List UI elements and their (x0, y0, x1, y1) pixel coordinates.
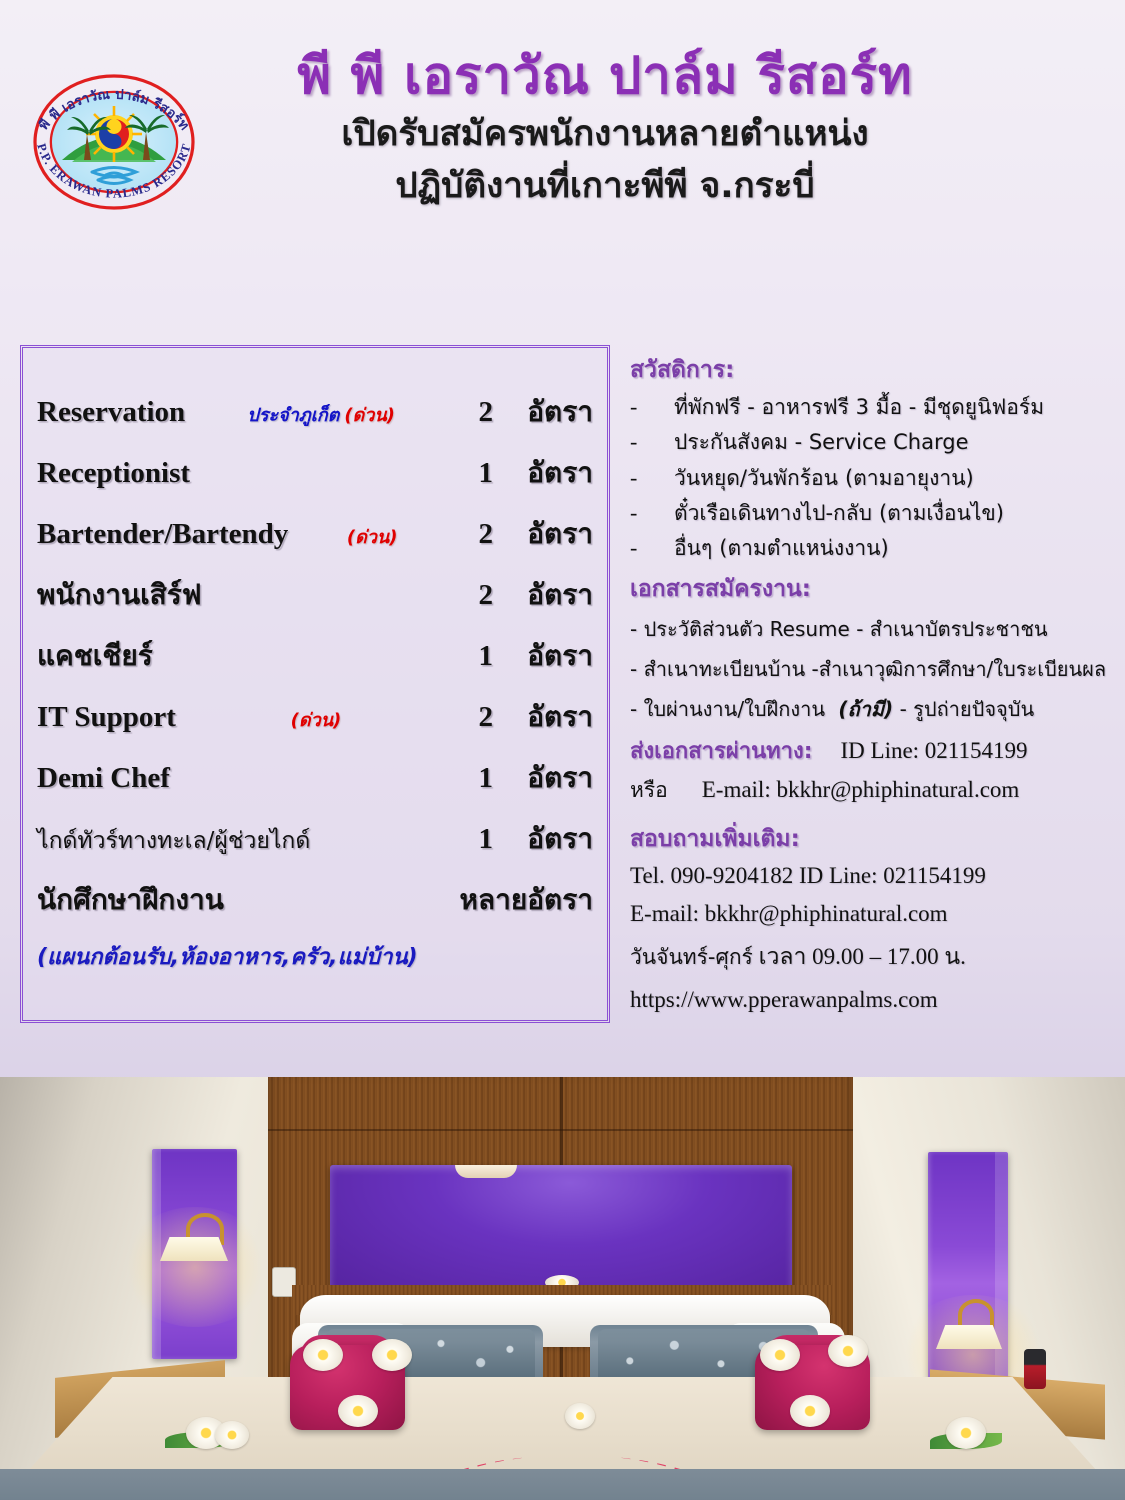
benefit-condition: (ตามตำแหน่งงาน) (719, 535, 888, 561)
document-condition: (ถ้ามี) (838, 697, 893, 721)
frangipani-flower (946, 1417, 986, 1449)
documents-heading: เอกสารสมัครงาน: (630, 571, 1115, 607)
document-line: - ใบผ่านงาน/ใบฝึกงาน (ถ้ามี) - รูปถ่ายปั… (630, 693, 1115, 725)
position-count: 1 (451, 640, 493, 673)
position-count: 1 (451, 457, 493, 490)
position-unit: อัตรา (493, 390, 593, 434)
positions-box: Reservation ประจำภูเก็ต (ด่วน) 2 อัตรา R… (20, 345, 610, 1023)
position-row: แคชเชียร์ 1 อัตรา (37, 634, 593, 678)
position-title: Reservation (37, 396, 241, 429)
right-wall-lamp-icon (936, 1325, 1002, 1349)
thermos-flask (1024, 1349, 1046, 1389)
bed-runner-pattern (0, 1475, 1125, 1500)
info-column: สวัสดิการ: - ที่พักฟรี - อาหารฟรี 3 มื้อ… (630, 352, 1115, 1025)
job-poster: พี พี เอราวัณ ปาล์ม รีสอร์ท P.P. ERAWAN … (0, 0, 1125, 1500)
frangipani-flower (828, 1335, 868, 1367)
position-row: พนักงานเสิร์ฟ 2 อัตรา (37, 573, 593, 617)
position-unit: อัตรา (493, 451, 593, 495)
bullet-dash: - (630, 465, 674, 491)
position-count: 2 (451, 579, 493, 612)
or-label: หรือ (630, 774, 668, 807)
position-title: Receptionist (37, 457, 321, 490)
frangipani-flower (215, 1421, 249, 1449)
resort-name-title: พี พี เอราวัณ ปาล์ม รีสอร์ท (225, 48, 985, 105)
position-title: ไกด์ทัวร์ทางทะเล/ผู้ช่วยไกด์ (37, 823, 381, 859)
document-text-tail: - รูปถ่ายปัจจุบัน (900, 697, 1035, 721)
position-unit: อัตรา (493, 634, 593, 678)
benefit-text: ประกันสังคม - Service Charge (674, 429, 969, 455)
purple-headboard-niche (330, 1165, 792, 1293)
send-documents-row: ส่งเอกสารผ่านทาง: ID Line: 021154199 (630, 733, 1115, 768)
frangipani-flower (372, 1339, 412, 1371)
position-count: 2 (451, 701, 493, 734)
frangipani-flower (338, 1395, 378, 1427)
position-title: แคชเชียร์ (37, 634, 302, 678)
send-documents-label: ส่งเอกสารผ่านทาง: (630, 733, 813, 768)
document-line: - ประวัติส่วนตัว Resume - สำเนาบัตรประชา… (630, 613, 1115, 645)
position-unit: หลายอัตรา (451, 878, 593, 922)
benefit-item: - ประกันสังคม - Service Charge (630, 429, 1115, 455)
left-wall-lamp-icon (160, 1237, 228, 1261)
contact-email-line[interactable]: E-mail: bkkhr@phiphinatural.com (630, 901, 1115, 927)
position-row: IT Support (ด่วน) 2 อัตรา (37, 695, 593, 739)
position-unit: อัตรา (493, 512, 593, 556)
benefit-text: ตั๋วเรือเดินทางไป-กลับ (674, 500, 872, 526)
position-row: นักศึกษาฝึกงาน หลายอัตรา (37, 878, 593, 922)
position-title: นักศึกษาฝึกงาน (37, 878, 337, 922)
contact-hours-time: เวลา 09.00 – 17.00 น. (759, 944, 966, 969)
position-unit: อัตรา (493, 573, 593, 617)
position-title: Bartender/Bartendy (37, 518, 342, 551)
position-title: พนักงานเสิร์ฟ (37, 573, 326, 617)
bullet-dash: - (630, 535, 674, 561)
send-documents-value[interactable]: ID Line: 021154199 (841, 738, 1028, 764)
position-count: 1 (451, 823, 493, 856)
position-unit: อัตรา (493, 695, 593, 739)
benefit-condition: (ตามอายุงาน) (845, 465, 974, 491)
position-row: ไกด์ทัวร์ทางทะเล/ผู้ช่วยไกด์ 1 อัตรา (37, 817, 593, 861)
position-note-urgent: (ด่วน) (291, 705, 342, 734)
bullet-dash: - (630, 500, 674, 526)
contact-phone-line[interactable]: Tel. 090-9204182 ID Line: 021154199 (630, 863, 1115, 889)
bullet-dash: - (630, 429, 674, 455)
frangipani-flower (565, 1403, 595, 1429)
position-note-blue: ประจำภูเก็ต (247, 400, 339, 429)
benefit-item: - อื่นๆ (ตามตำแหน่งงาน) (630, 535, 1115, 561)
header-subtitle-line2: ปฏิบัติงานที่เกาะพีพี จ.กระบี่ (225, 163, 985, 209)
position-row: Reservation ประจำภูเก็ต (ด่วน) 2 อัตรา (37, 390, 593, 434)
documents-section: เอกสารสมัครงาน: - ประวัติส่วนตัว Resume … (630, 571, 1115, 807)
position-unit: อัตรา (493, 756, 593, 800)
contact-hours-days: วันจันทร์-ศุกร์ (630, 945, 753, 969)
position-unit: อัตรา (493, 817, 593, 861)
header-subtitle-line1: เปิดรับสมัครพนักงานหลายตำแหน่ง (225, 111, 985, 157)
position-row: Receptionist 1 อัตรา (37, 451, 593, 495)
contact-heading: สอบถามเพิ่มเติม: (630, 821, 1115, 857)
benefit-text: ที่พักฟรี - อาหารฟรี 3 มื้อ - มีชุดยูนิฟ… (674, 394, 1044, 420)
alternative-contact-row: หรือ E-mail: bkkhr@phiphinatural.com (630, 774, 1115, 807)
position-note-urgent: (ด่วน) (347, 522, 398, 551)
benefit-item: - ตั๋วเรือเดินทางไป-กลับ (ตามเงื่อนไข) (630, 500, 1115, 526)
frangipani-flower (303, 1339, 343, 1371)
contact-section: สอบถามเพิ่มเติม: Tel. 090-9204182 ID Lin… (630, 821, 1115, 1013)
position-row: Bartender/Bartendy (ด่วน) 2 อัตรา (37, 512, 593, 556)
niche-spotlight-icon (455, 1165, 517, 1178)
department-note: (แผนกต้อนรับ,ห้องอาหาร,ครัว,แม่บ้าน) (37, 939, 593, 974)
contact-website-link[interactable]: https://www.pperawanpalms.com (630, 987, 1115, 1013)
document-line: - สำเนาทะเบียนบ้าน -สำเนาวุฒิการศึกษา/ใบ… (630, 653, 1115, 685)
position-count: 1 (451, 762, 493, 795)
position-count: 2 (451, 518, 493, 551)
benefit-text: อื่นๆ (674, 535, 712, 561)
position-title: Demi Chef (37, 762, 310, 795)
frangipani-flower (790, 1395, 830, 1427)
benefit-condition: (ตามเงื่อนไข) (879, 500, 1004, 526)
frangipani-flower (760, 1339, 800, 1371)
email-value[interactable]: E-mail: bkkhr@phiphinatural.com (702, 777, 1020, 803)
benefit-item: - ที่พักฟรี - อาหารฟรี 3 มื้อ - มีชุดยูน… (630, 394, 1115, 420)
position-row: Demi Chef 1 อัตรา (37, 756, 593, 800)
benefits-heading: สวัสดิการ: (630, 352, 1115, 388)
bullet-dash: - (630, 394, 674, 420)
position-note-urgent: (ด่วน) (344, 400, 395, 429)
header-text-block: พี พี เอราวัณ ปาล์ม รีสอร์ท เปิดรับสมัคร… (225, 48, 985, 209)
benefit-item: - วันหยุด/วันพักร้อน (ตามอายุงาน) (630, 465, 1115, 491)
position-count: 2 (451, 396, 493, 429)
benefit-text: วันหยุด/วันพักร้อน (674, 465, 838, 491)
document-text: - ใบผ่านงาน/ใบฝึกงาน (630, 697, 825, 721)
benefits-section: สวัสดิการ: - ที่พักฟรี - อาหารฟรี 3 มื้อ… (630, 352, 1115, 561)
poster-header: พี พี เอราวัณ ปาล์ม รีสอร์ท P.P. ERAWAN … (0, 0, 1125, 270)
hotel-room-photo (0, 1077, 1125, 1500)
resort-logo: พี พี เอราวัณ ปาล์ม รีสอร์ท P.P. ERAWAN … (14, 42, 214, 242)
position-title: IT Support (37, 701, 286, 734)
positions-list: Reservation ประจำภูเก็ต (ด่วน) 2 อัตรา R… (23, 348, 607, 974)
contact-hours-line: วันจันทร์-ศุกร์ เวลา 09.00 – 17.00 น. (630, 939, 1115, 975)
